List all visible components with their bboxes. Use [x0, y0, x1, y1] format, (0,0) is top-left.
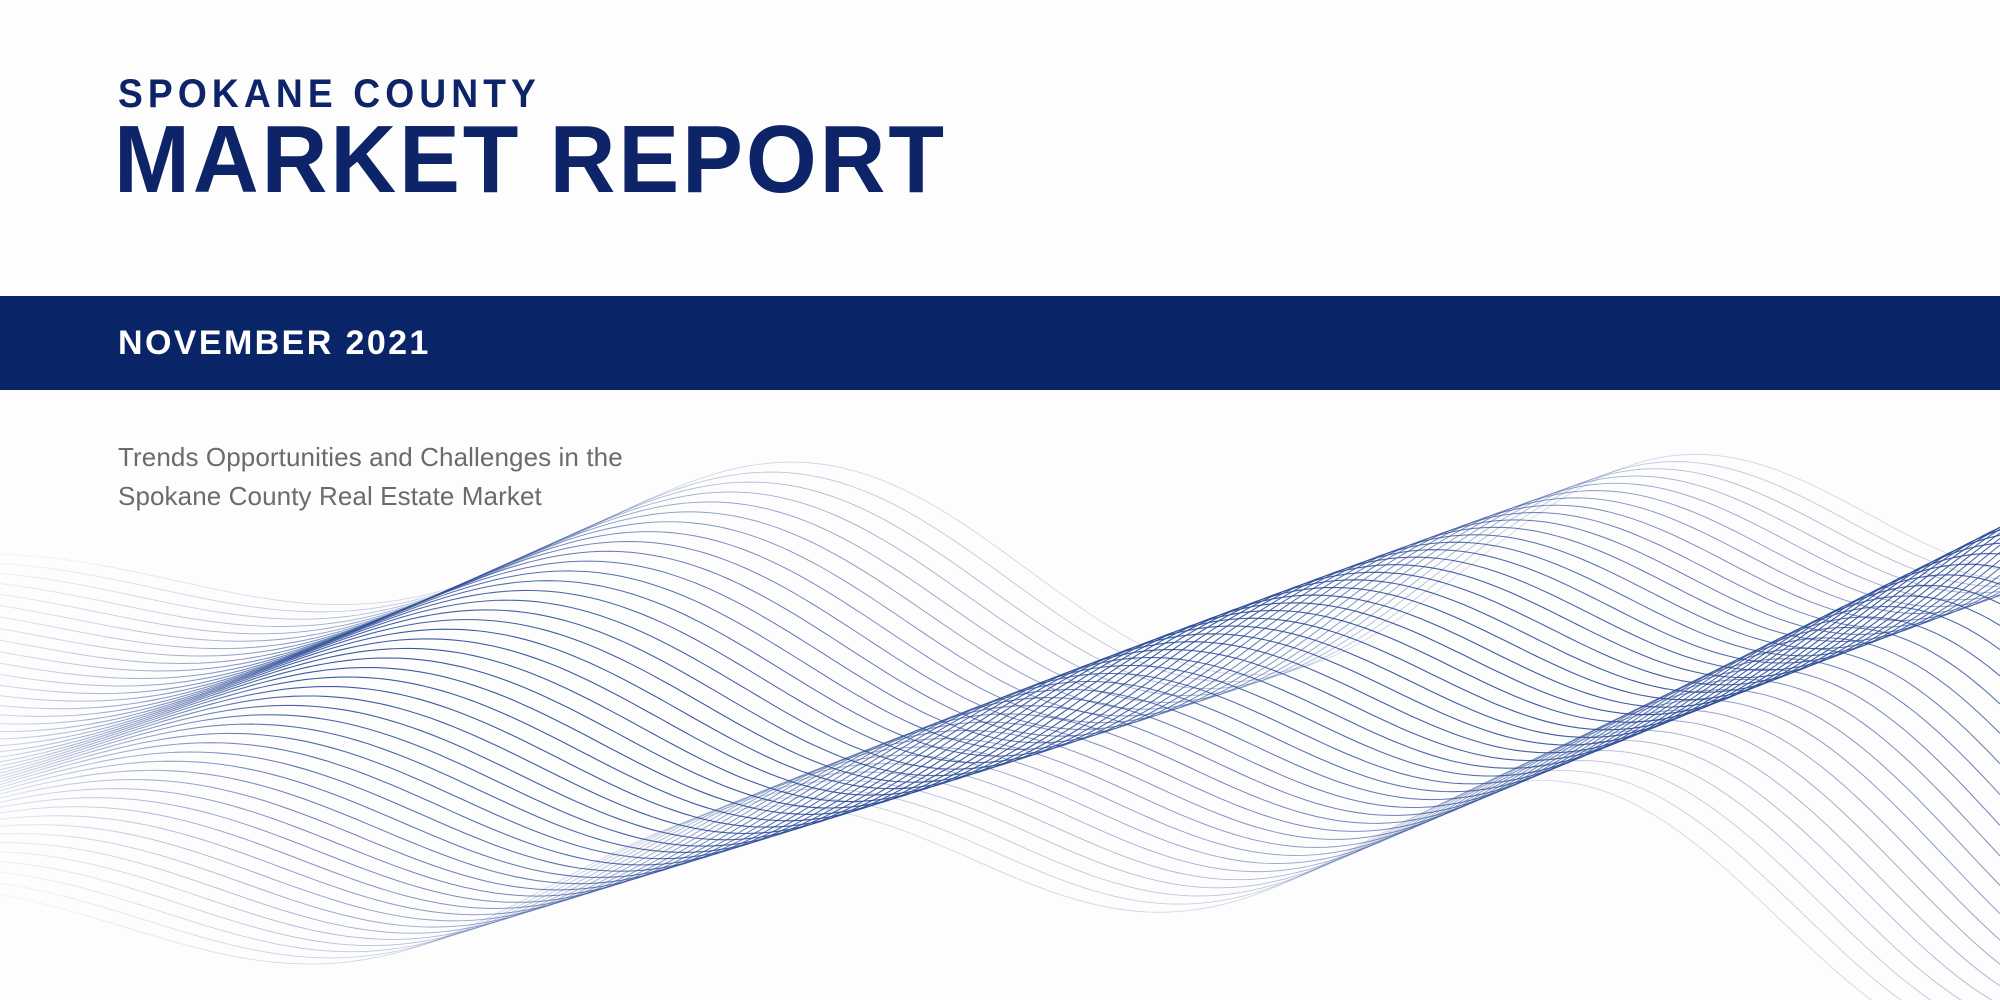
wave-line	[0, 550, 2000, 763]
wave-line	[0, 700, 2000, 915]
wave-line	[0, 771, 2000, 1000]
wave-line	[0, 575, 2000, 840]
wave-line	[0, 538, 2000, 775]
wave-line	[0, 761, 2000, 1000]
wave-line	[0, 542, 2000, 756]
wave-line	[0, 781, 2000, 1000]
wave-line	[0, 669, 2000, 896]
wave-line	[0, 513, 2000, 730]
wave-line	[0, 585, 2000, 846]
wave-line	[0, 505, 2000, 723]
wave-line	[0, 535, 2000, 814]
market-report-cover: SPOKANE COUNTY MARKET REPORT NOVEMBER 20…	[0, 0, 2000, 1000]
wave-line	[0, 564, 2000, 833]
wave-line	[0, 740, 2000, 1000]
wave-line	[0, 554, 2000, 828]
wave-line	[0, 533, 2000, 782]
wave-line	[0, 543, 2000, 821]
wave-line	[0, 730, 2000, 986]
wave-line	[0, 751, 2000, 1000]
wave-line	[0, 491, 2000, 710]
wave-line	[0, 530, 2000, 808]
wave-line	[0, 596, 2000, 852]
wave-line	[0, 498, 2000, 716]
wave-line	[0, 545, 2000, 769]
date-band: NOVEMBER 2021	[0, 296, 2000, 390]
wave-line	[0, 638, 2000, 878]
wave-line	[0, 527, 2000, 795]
wave-line-group	[0, 454, 2000, 1000]
report-subtitle: Trends Opportunities and Challenges in t…	[118, 438, 623, 516]
wave-line	[0, 483, 2000, 702]
wave-line	[0, 628, 2000, 872]
wave-line	[0, 607, 2000, 859]
wave-line	[0, 529, 2000, 789]
wave-line	[0, 648, 2000, 883]
wave-line	[0, 527, 2000, 743]
wave-line	[0, 710, 2000, 940]
wave-line	[0, 617, 2000, 865]
wave-line	[0, 520, 2000, 736]
wave-line	[0, 679, 2000, 902]
wave-line	[0, 659, 2000, 890]
wave-line	[0, 690, 2000, 909]
wave-line	[0, 535, 2000, 750]
date-band-label: NOVEMBER 2021	[118, 324, 431, 362]
wave-line	[0, 527, 2000, 801]
page-title: MARKET REPORT	[114, 110, 947, 210]
wave-line	[0, 720, 2000, 964]
